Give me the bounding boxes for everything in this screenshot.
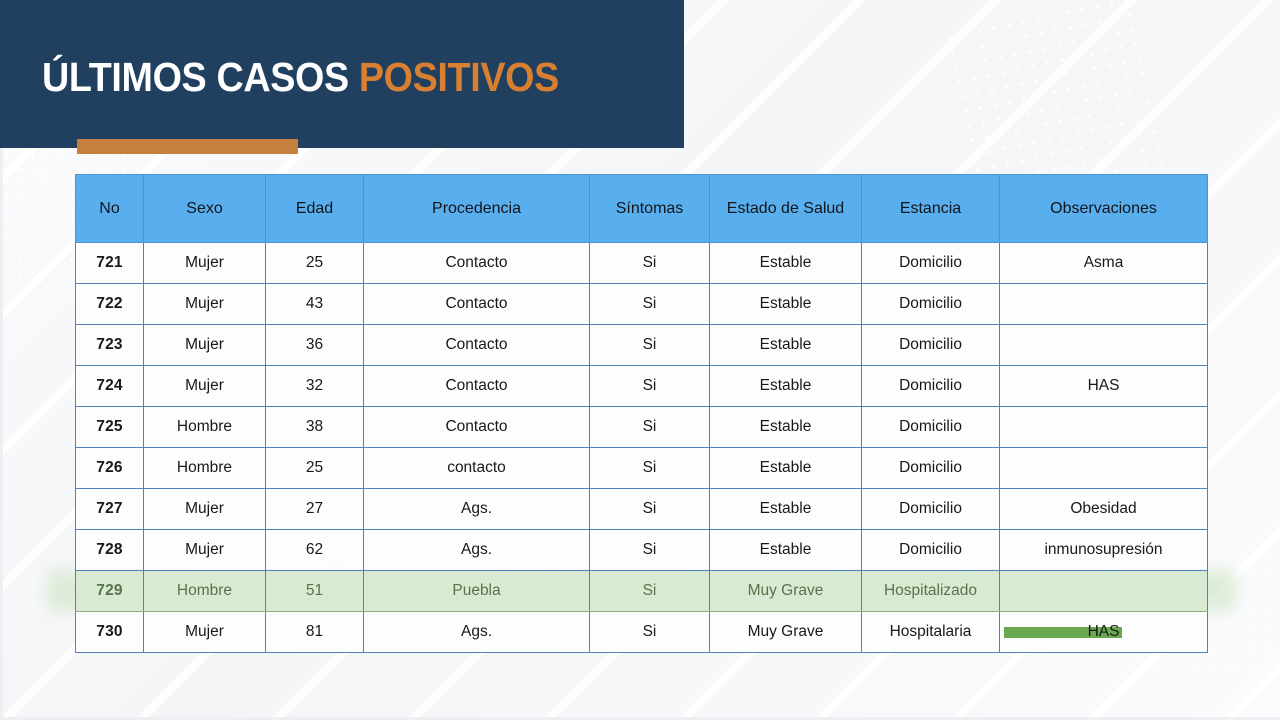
cell-no: 725 xyxy=(76,407,144,448)
cell-edad: 62 xyxy=(266,530,364,571)
cell-procedencia: Ags. xyxy=(364,489,590,530)
cell-edad: 36 xyxy=(266,325,364,366)
column-header-estancia[interactable]: Estancia xyxy=(862,175,1000,243)
column-header-procedencia[interactable]: Procedencia xyxy=(364,175,590,243)
cell-observaciones xyxy=(1000,325,1208,366)
cell-sintomas: Si xyxy=(590,448,710,489)
cell-observaciones xyxy=(1000,284,1208,325)
cases-table-container: No Sexo Edad Procedencia Síntomas Estado… xyxy=(75,174,1207,653)
cell-estancia: Hospitalizado xyxy=(862,571,1000,612)
cell-estancia: Domicilio xyxy=(862,243,1000,284)
cell-observaciones xyxy=(1000,407,1208,448)
cell-edad: 25 xyxy=(266,243,364,284)
cell-estancia: Hospitalaria xyxy=(862,612,1000,653)
cell-no: 730 xyxy=(76,612,144,653)
cell-edad: 25 xyxy=(266,448,364,489)
cell-observaciones xyxy=(1000,571,1208,612)
page-title: ÚLTIMOS CASOS POSITIVOS xyxy=(42,55,559,100)
cell-observaciones xyxy=(1000,448,1208,489)
cell-estancia: Domicilio xyxy=(862,489,1000,530)
table-body: 721Mujer25ContactoSiEstableDomicilioAsma… xyxy=(76,243,1208,653)
cell-estado: Estable xyxy=(710,407,862,448)
cell-estado: Estable xyxy=(710,284,862,325)
cell-sexo: Mujer xyxy=(144,530,266,571)
cell-estado: Estable xyxy=(710,325,862,366)
table-row[interactable]: 726Hombre25contactoSiEstableDomicilio xyxy=(76,448,1208,489)
cell-sintomas: Si xyxy=(590,243,710,284)
cell-sintomas: Si xyxy=(590,407,710,448)
page-title-main: ÚLTIMOS CASOS xyxy=(42,54,349,100)
cell-edad: 38 xyxy=(266,407,364,448)
cell-edad: 43 xyxy=(266,284,364,325)
cell-sintomas: Si xyxy=(590,284,710,325)
cell-estancia: Domicilio xyxy=(862,284,1000,325)
cell-no: 722 xyxy=(76,284,144,325)
cell-no: 729 xyxy=(76,571,144,612)
cell-no: 728 xyxy=(76,530,144,571)
cell-estancia: Domicilio xyxy=(862,448,1000,489)
cell-observaciones: Asma xyxy=(1000,243,1208,284)
title-underline-bar xyxy=(77,139,298,154)
cell-estancia: Domicilio xyxy=(862,530,1000,571)
cell-sexo: Mujer xyxy=(144,284,266,325)
column-header-estado-salud[interactable]: Estado de Salud xyxy=(710,175,862,243)
cell-sintomas: Si xyxy=(590,612,710,653)
cell-procedencia: Contacto xyxy=(364,284,590,325)
cell-estado: Estable xyxy=(710,489,862,530)
cell-procedencia: contacto xyxy=(364,448,590,489)
table-row[interactable]: 722Mujer43ContactoSiEstableDomicilio xyxy=(76,284,1208,325)
cell-estancia: Domicilio xyxy=(862,366,1000,407)
cell-sexo: Mujer xyxy=(144,612,266,653)
cell-estado: Estable xyxy=(710,243,862,284)
title-banner: ÚLTIMOS CASOS POSITIVOS xyxy=(0,0,684,148)
column-header-edad[interactable]: Edad xyxy=(266,175,364,243)
cell-edad: 81 xyxy=(266,612,364,653)
cell-edad: 27 xyxy=(266,489,364,530)
cell-sintomas: Si xyxy=(590,530,710,571)
cell-sexo: Mujer xyxy=(144,366,266,407)
cell-procedencia: Puebla xyxy=(364,571,590,612)
table-row[interactable]: 721Mujer25ContactoSiEstableDomicilioAsma xyxy=(76,243,1208,284)
cell-no: 727 xyxy=(76,489,144,530)
cell-sintomas: Si xyxy=(590,489,710,530)
column-header-observaciones[interactable]: Observaciones xyxy=(1000,175,1208,243)
cell-no: 721 xyxy=(76,243,144,284)
page-title-accent: POSITIVOS xyxy=(359,54,559,100)
cell-no: 726 xyxy=(76,448,144,489)
cell-estancia: Domicilio xyxy=(862,325,1000,366)
cell-sexo: Mujer xyxy=(144,325,266,366)
table-header-row: No Sexo Edad Procedencia Síntomas Estado… xyxy=(76,175,1208,243)
cell-estado: Muy Grave xyxy=(710,612,862,653)
cell-estado: Estable xyxy=(710,448,862,489)
cell-estado: Estable xyxy=(710,366,862,407)
column-header-no[interactable]: No xyxy=(76,175,144,243)
table-header: No Sexo Edad Procedencia Síntomas Estado… xyxy=(76,175,1208,243)
cell-observaciones: Obesidad xyxy=(1000,489,1208,530)
cell-observaciones-text: HAS xyxy=(1088,623,1120,640)
slide: ÚLTIMOS CASOS POSITIVOS No Sexo Edad Pro… xyxy=(0,0,1280,720)
cell-procedencia: Contacto xyxy=(364,366,590,407)
cell-sexo: Mujer xyxy=(144,243,266,284)
cell-procedencia: Ags. xyxy=(364,612,590,653)
cell-sintomas: Si xyxy=(590,571,710,612)
cell-estado: Muy Grave xyxy=(710,571,862,612)
cell-observaciones: HAS xyxy=(1000,612,1208,653)
cell-estancia: Domicilio xyxy=(862,407,1000,448)
cell-procedencia: Contacto xyxy=(364,407,590,448)
cell-estado: Estable xyxy=(710,530,862,571)
table-row[interactable]: 724Mujer32ContactoSiEstableDomicilioHAS xyxy=(76,366,1208,407)
cell-sintomas: Si xyxy=(590,366,710,407)
cell-procedencia: Ags. xyxy=(364,530,590,571)
table-row[interactable]: 723Mujer36ContactoSiEstableDomicilio xyxy=(76,325,1208,366)
cell-edad: 32 xyxy=(266,366,364,407)
cell-sexo: Hombre xyxy=(144,407,266,448)
cell-no: 723 xyxy=(76,325,144,366)
table-row[interactable]: 730Mujer81Ags.SiMuy GraveHospitalariaHAS xyxy=(76,612,1208,653)
cell-sexo: Hombre xyxy=(144,571,266,612)
cell-observaciones: inmunosupresión xyxy=(1000,530,1208,571)
cases-table: No Sexo Edad Procedencia Síntomas Estado… xyxy=(75,174,1208,653)
cell-sintomas: Si xyxy=(590,325,710,366)
cell-procedencia: Contacto xyxy=(364,243,590,284)
column-header-sintomas[interactable]: Síntomas xyxy=(590,175,710,243)
cell-edad: 51 xyxy=(266,571,364,612)
table-row[interactable]: 727Mujer27Ags.SiEstableDomicilioObesidad xyxy=(76,489,1208,530)
cell-no: 724 xyxy=(76,366,144,407)
column-header-sexo[interactable]: Sexo xyxy=(144,175,266,243)
table-row[interactable]: 725Hombre38ContactoSiEstableDomicilio xyxy=(76,407,1208,448)
cell-sexo: Mujer xyxy=(144,489,266,530)
cell-procedencia: Contacto xyxy=(364,325,590,366)
table-row[interactable]: 728Mujer62Ags.SiEstableDomicilioinmunosu… xyxy=(76,530,1208,571)
table-row[interactable]: 729Hombre51PueblaSiMuy GraveHospitalizad… xyxy=(76,571,1208,612)
cell-observaciones: HAS xyxy=(1000,366,1208,407)
cell-sexo: Hombre xyxy=(144,448,266,489)
